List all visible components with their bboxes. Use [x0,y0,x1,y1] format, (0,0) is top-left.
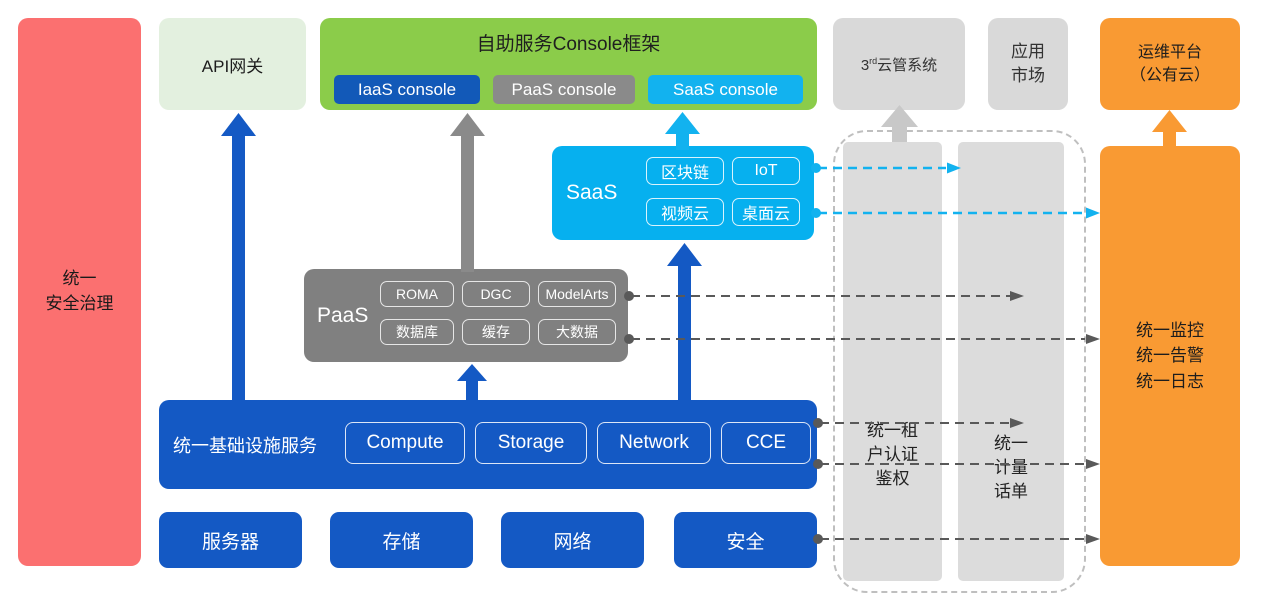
hardware-box-security[interactable]: 安全 [674,512,817,568]
console-framework-title: 自助服务Console框架 [320,29,817,56]
saas-service-iot[interactable]: IoT [732,157,800,185]
unified-metering-billing-column[interactable]: 统一 计量 话单 [958,142,1064,581]
paas-service-cache[interactable]: 缓存 [462,319,530,345]
ops-platform-public-cloud-box[interactable]: 运维平台 （公有云） [1100,18,1240,110]
iaas-service-storage[interactable]: Storage [475,422,587,464]
paas-service-modelarts[interactable]: ModelArts [538,281,616,307]
unified-security-governance-panel[interactable]: 统一 安全治理 [18,18,141,566]
hardware-box-server[interactable]: 服务器 [159,512,302,568]
third-party-superscript: rd [869,56,877,66]
saas-service-blockchain[interactable]: 区块链 [646,157,724,185]
saas-layer-label: SaaS [566,181,617,205]
arrow-iaas-to-api-gateway [221,113,256,402]
unified-monitoring-alarm-log-panel[interactable]: 统一监控 统一告警 统一日志 [1100,146,1240,566]
paas-service-database[interactable]: 数据库 [380,319,454,345]
console-pill-paas[interactable]: PaaS console [493,75,635,104]
ops-panel-label: 统一监控 统一告警 统一日志 [1136,318,1204,395]
saas-service-video-cloud[interactable]: 视频云 [646,198,724,226]
third-party-cloud-management-box[interactable]: 3rd云管系统 [833,18,965,110]
api-gateway-box[interactable]: API网关 [159,18,306,110]
app-market-label: 应用 市场 [1011,40,1045,88]
ops-top-label: 运维平台 （公有云） [1130,41,1210,87]
unified-tenant-auth-column[interactable]: 统一租 户认证 鉴权 [843,142,942,581]
console-pill-iaas[interactable]: IaaS console [334,75,480,104]
self-service-console-framework[interactable]: 自助服务Console框架 IaaS console PaaS console … [320,18,817,110]
paas-service-dgc[interactable]: DGC [462,281,530,307]
iaas-service-cce[interactable]: CCE [721,422,811,464]
hardware-box-network[interactable]: 网络 [501,512,644,568]
arrow-ops-panel-to-ops-top [1152,110,1187,147]
meter-column-label: 统一 计量 话单 [958,432,1064,504]
paas-layer-label: PaaS [317,304,368,328]
application-market-box[interactable]: 应用 市场 [988,18,1068,110]
architecture-diagram: 统一 安全治理 API网关 自助服务Console框架 IaaS console… [0,0,1265,605]
saas-service-desktop-cloud[interactable]: 桌面云 [732,198,800,226]
arrow-iaas-to-saas [667,243,702,402]
arrow-iaas-to-paas [457,364,487,403]
arrow-paas-to-console [450,113,485,272]
hardware-box-storage[interactable]: 存储 [330,512,473,568]
arrow-saas-to-console [665,112,700,150]
iaas-bar-label: 统一基础设施服务 [173,432,317,458]
auth-column-label: 统一租 户认证 鉴权 [843,419,942,491]
saas-layer-box[interactable]: SaaS 区块链 IoT 视频云 桌面云 [552,146,814,240]
security-panel-label: 统一 安全治理 [46,267,114,316]
api-gateway-label: API网关 [202,52,263,77]
paas-service-bigdata[interactable]: 大数据 [538,319,616,345]
unified-infrastructure-service-bar[interactable]: 统一基础设施服务 Compute Storage Network CCE [159,400,817,489]
console-pill-saas[interactable]: SaaS console [648,75,803,104]
paas-service-roma[interactable]: ROMA [380,281,454,307]
iaas-service-compute[interactable]: Compute [345,422,465,464]
paas-layer-box[interactable]: PaaS ROMA DGC ModelArts 数据库 缓存 大数据 [304,269,628,362]
third-party-label: 3rd云管系统 [861,54,937,75]
iaas-service-network[interactable]: Network [597,422,711,464]
